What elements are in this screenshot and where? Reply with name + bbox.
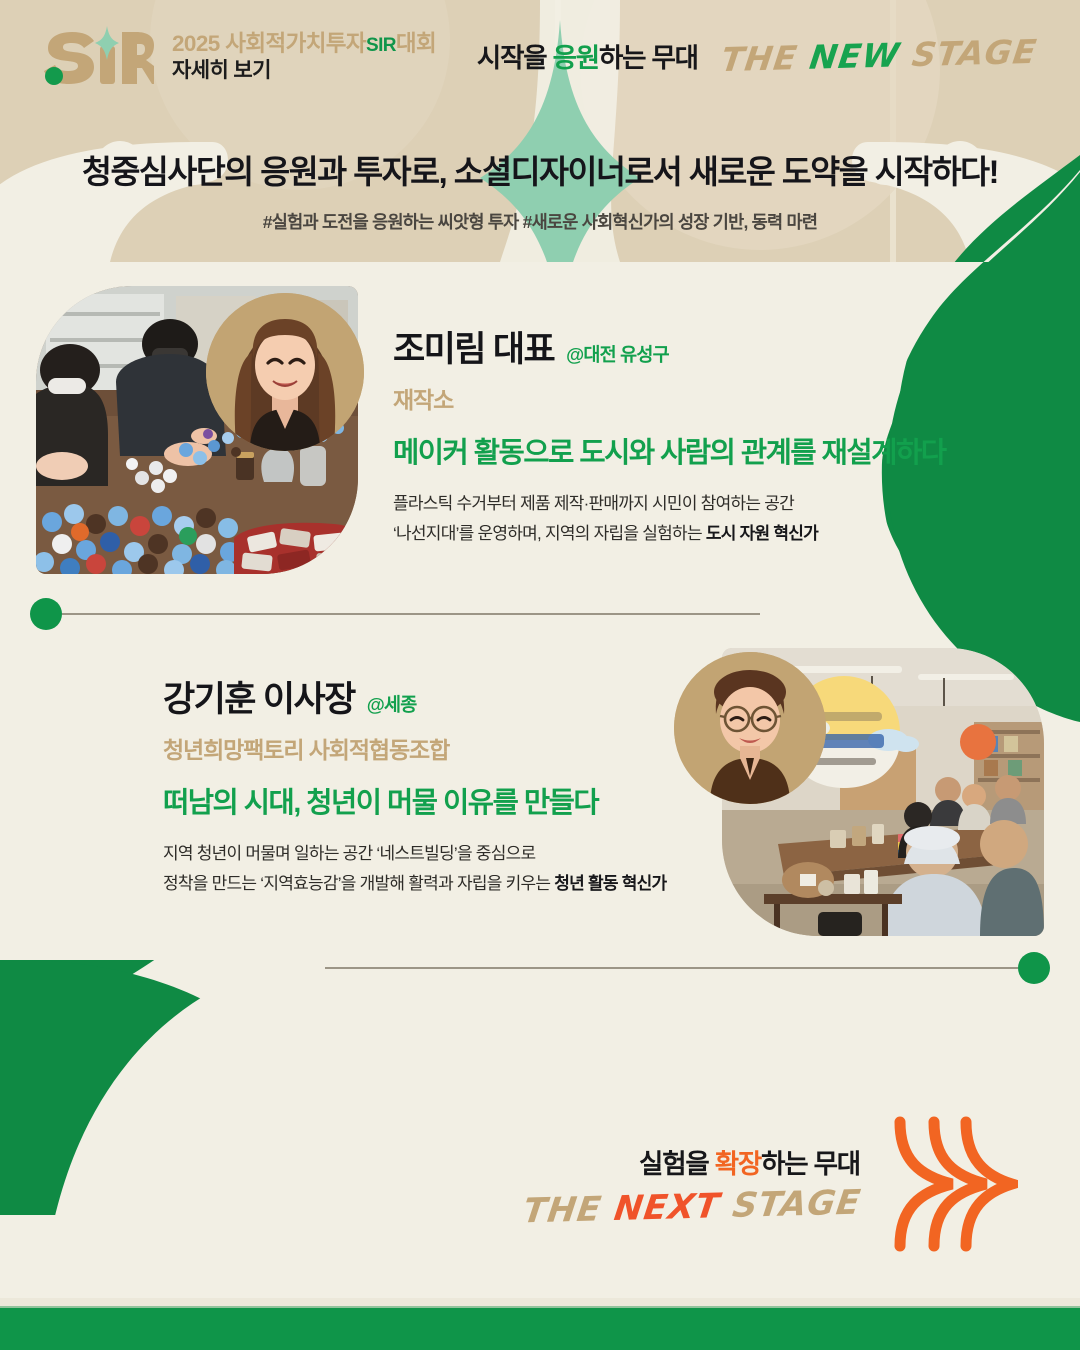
profile-a-location: @대전 유성구 (566, 341, 669, 367)
page-title: 청중심사단의 응원과 투자로, 소셜디자이너로서 새로운 도약을 시작하다! (0, 152, 1080, 193)
divider-dot-icon (1018, 952, 1050, 984)
section-divider-2 (325, 952, 1050, 984)
footer-tagline-korean: 실험을 확장하는 무대 (524, 1142, 860, 1181)
header-tagline-group: 시작을 응원하는 무대 THE NEW STAGE (477, 36, 1036, 75)
profile-b-desc-line2-pre: 정착을 만드는 ‘지역효능감’을 개발해 활력과 자립을 키우는 (163, 874, 554, 893)
the-next-stage-wordmark: THE NEXT STAGE (521, 1182, 864, 1231)
script-word-new: NEW (807, 35, 915, 77)
profile-a-name: 조미림 대표 (393, 330, 554, 370)
header-bar: 2025 사회적가치투자SIR대회 자세히 보기 시작을 응원하는 무대 THE… (0, 0, 1080, 112)
page-subtitle: #실험과 도전을 응원하는 씨앗형 투자 #새로운 사회혁신가의 성장 기반, … (0, 209, 1080, 234)
profile-b-name: 강기훈 이사장 (163, 680, 355, 720)
profile-b-description: 지역 청년이 머물며 일하는 공간 ‘네스트빌딩’을 중심으로 정착을 만드는 … (163, 839, 666, 897)
the-new-stage-wordmark: THE NEW STAGE (719, 32, 1039, 79)
profile-b-org: 청년희망팩토리 사회적협동조합 (163, 731, 666, 765)
profile-b-headline: 떠남의 시대, 청년이 머물 이유를 만들다 (163, 786, 666, 820)
profile-a-org: 재작소 (393, 381, 946, 415)
profile-a-avatar (206, 293, 364, 451)
footer-script-word-the: THE (521, 1189, 617, 1231)
profile-a-name-row: 조미림 대표 @대전 유성구 (393, 330, 946, 370)
section-divider-1 (30, 598, 760, 630)
profile-a-text: 조미림 대표 @대전 유성구 재작소 메이커 활동으로 도시와 사람의 관계를 … (393, 330, 946, 548)
sir-badge: SIR (366, 35, 396, 56)
footer-tagline-post: 하는 무대 (761, 1149, 860, 1179)
footer-tagline-highlight: 확장 (715, 1149, 761, 1179)
poster-card: 2025 사회적가치투자SIR대회 자세히 보기 시작을 응원하는 무대 THE… (0, 0, 1080, 1350)
script-word-the: THE (719, 38, 813, 79)
tagline-pre: 시작을 (477, 43, 553, 73)
divider-dot-icon (30, 598, 62, 630)
profile-a-desc-line2-pre: ‘나선지대’를 운영하며, 지역의 자립을 실험하는 (393, 524, 706, 543)
profile-a-desc-line1: 플라스틱 수거부터 제품 제작·판매까지 시민이 참여하는 공간 (393, 489, 946, 518)
profile-a-desc-line2: ‘나선지대’를 운영하며, 지역의 자립을 실험하는 도시 자원 혁신가 (393, 519, 946, 548)
footer-script-word-stage: STAGE (730, 1182, 863, 1225)
profile-b-name-row: 강기훈 이사장 @세종 (163, 680, 666, 720)
footer-script-word-next: NEXT (612, 1185, 736, 1228)
profile-b-desc-line1: 지역 청년이 머물며 일하는 공간 ‘네스트빌딩’을 중심으로 (163, 839, 666, 868)
brand-text-group: 2025 사회적가치투자SIR대회 자세히 보기 (172, 32, 436, 83)
footer-tagline-pre: 실험을 (639, 1149, 715, 1179)
detail-link[interactable]: 자세히 보기 (172, 59, 436, 82)
divider-line (325, 967, 1018, 969)
profile-b-location: @세종 (367, 691, 417, 717)
event-title-text: 2025 사회적가치투자 (172, 31, 366, 56)
profile-b-text: 강기훈 이사장 @세종 청년희망팩토리 사회적협동조합 떠남의 시대, 청년이 … (163, 680, 666, 898)
footer-texts: 실험을 확장하는 무대 THE NEXT STAGE (524, 1142, 860, 1227)
tagline-highlight: 응원 (553, 43, 599, 73)
event-title-tail: 대회 (396, 31, 436, 56)
event-title: 2025 사회적가치투자SIR대회 (172, 32, 436, 57)
script-word-stage: STAGE (910, 32, 1040, 74)
brand-logo-group[interactable]: 2025 사회적가치투자SIR대회 자세히 보기 (42, 26, 436, 88)
profile-a-desc-emphasis: 도시 자원 혁신가 (706, 524, 818, 543)
profile-b-avatar (674, 652, 826, 804)
header-tagline-korean: 시작을 응원하는 무대 (477, 36, 698, 75)
tagline-post: 하는 무대 (599, 43, 698, 73)
profile-a-headline: 메이커 활동으로 도시와 사람의 관계를 재설계하다 (393, 436, 946, 470)
divider-line (62, 613, 760, 615)
triple-chevron-right-icon (886, 1114, 1018, 1254)
footer-tagline-group: 실험을 확장하는 무대 THE NEXT STAGE (524, 1114, 1018, 1254)
profile-a-description: 플라스틱 수거부터 제품 제작·판매까지 시민이 참여하는 공간 ‘나선지대’를… (393, 489, 946, 547)
profile-b-desc-emphasis: 청년 활동 혁신가 (554, 874, 666, 893)
title-block: 청중심사단의 응원과 투자로, 소셜디자이너로서 새로운 도약을 시작하다! #… (0, 152, 1080, 234)
sir-logo-icon (42, 26, 154, 88)
profile-b-desc-line2: 정착을 만드는 ‘지역효능감’을 개발해 활력과 자립을 키우는 청년 활동 혁… (163, 869, 666, 898)
